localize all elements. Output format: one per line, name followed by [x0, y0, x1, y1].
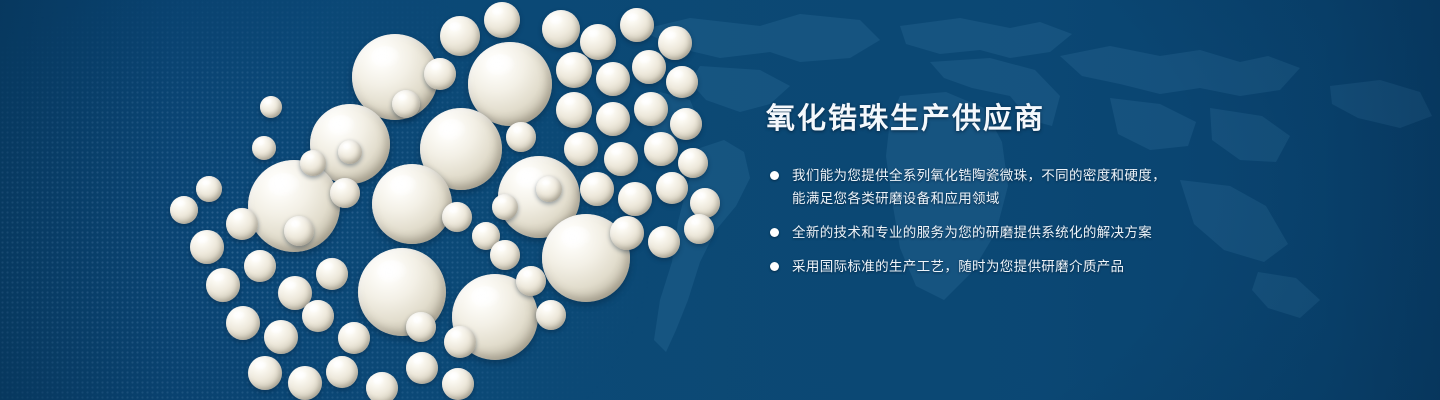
bead	[618, 182, 652, 216]
bullet-text-line1: 全新的技术和专业的服务为您的研磨提供系统化的解决方案	[792, 225, 1152, 240]
bead	[288, 366, 322, 400]
bead	[596, 62, 630, 96]
page-title: 氧化锆珠生产供应商	[766, 104, 1282, 136]
list-item: 全新的技术和专业的服务为您的研磨提供系统化的解决方案	[762, 221, 1282, 244]
bead	[196, 176, 222, 202]
bead	[484, 2, 520, 38]
bullet-dot-icon	[770, 262, 779, 271]
bead	[316, 258, 348, 290]
bead	[338, 140, 362, 164]
bead	[604, 142, 638, 176]
bead	[556, 52, 592, 88]
bead	[658, 26, 692, 60]
bead	[610, 216, 644, 250]
bead	[506, 122, 536, 152]
bead	[556, 92, 592, 128]
bead	[444, 326, 476, 358]
bullet-text-line1: 我们能为您提供全系列氧化锆陶瓷微珠，不同的密度和硬度，	[792, 168, 1166, 183]
bead	[564, 132, 598, 166]
bead	[406, 312, 436, 342]
zirconia-beads-cluster	[0, 0, 760, 400]
bead	[492, 194, 518, 220]
bead	[580, 24, 616, 60]
feature-bullet-list: 我们能为您提供全系列氧化锆陶瓷微珠，不同的密度和硬度， 能满足您各类研磨设备和应…	[762, 164, 1282, 278]
bead	[330, 178, 360, 208]
list-item: 我们能为您提供全系列氧化锆陶瓷微珠，不同的密度和硬度， 能满足您各类研磨设备和应…	[762, 164, 1282, 210]
bullet-text-line1: 采用国际标准的生产工艺，随时为您提供研磨介质产品	[792, 259, 1124, 274]
bead	[244, 250, 276, 282]
bead	[670, 108, 702, 140]
bead	[440, 16, 480, 56]
bead	[338, 322, 370, 354]
bead	[536, 300, 566, 330]
bead	[516, 266, 546, 296]
bead	[372, 164, 452, 244]
bead	[284, 216, 314, 246]
bullet-dot-icon	[770, 171, 779, 180]
bead	[226, 306, 260, 340]
bead	[580, 172, 614, 206]
bead	[620, 8, 654, 42]
bead	[206, 268, 240, 302]
bead	[596, 102, 630, 136]
bead	[648, 226, 680, 258]
bullet-text-line2: 能满足您各类研磨设备和应用领域	[792, 187, 1282, 210]
bead	[406, 352, 438, 384]
bead	[678, 148, 708, 178]
bead	[260, 96, 282, 118]
bead	[226, 208, 258, 240]
bead	[442, 368, 474, 400]
bead	[632, 50, 666, 84]
bead	[644, 132, 678, 166]
bead	[190, 230, 224, 264]
banner-content: 氧化锆珠生产供应商 我们能为您提供全系列氧化锆陶瓷微珠，不同的密度和硬度， 能满…	[762, 104, 1282, 278]
bead	[326, 356, 358, 388]
bead	[656, 172, 688, 204]
bullet-dot-icon	[770, 228, 779, 237]
list-item: 采用国际标准的生产工艺，随时为您提供研磨介质产品	[762, 255, 1282, 278]
bead	[666, 66, 698, 98]
hero-banner: 氧化锆珠生产供应商 我们能为您提供全系列氧化锆陶瓷微珠，不同的密度和硬度， 能满…	[0, 0, 1440, 400]
bead	[424, 58, 456, 90]
bead	[392, 90, 420, 118]
bead	[684, 214, 714, 244]
bead	[536, 176, 562, 202]
bead	[490, 240, 520, 270]
bead	[170, 196, 198, 224]
bead	[542, 10, 580, 48]
bead	[300, 150, 326, 176]
bead	[302, 300, 334, 332]
bead	[366, 372, 398, 400]
bead	[442, 202, 472, 232]
bead	[252, 136, 276, 160]
bead	[264, 320, 298, 354]
bead	[634, 92, 668, 126]
bead	[248, 356, 282, 390]
